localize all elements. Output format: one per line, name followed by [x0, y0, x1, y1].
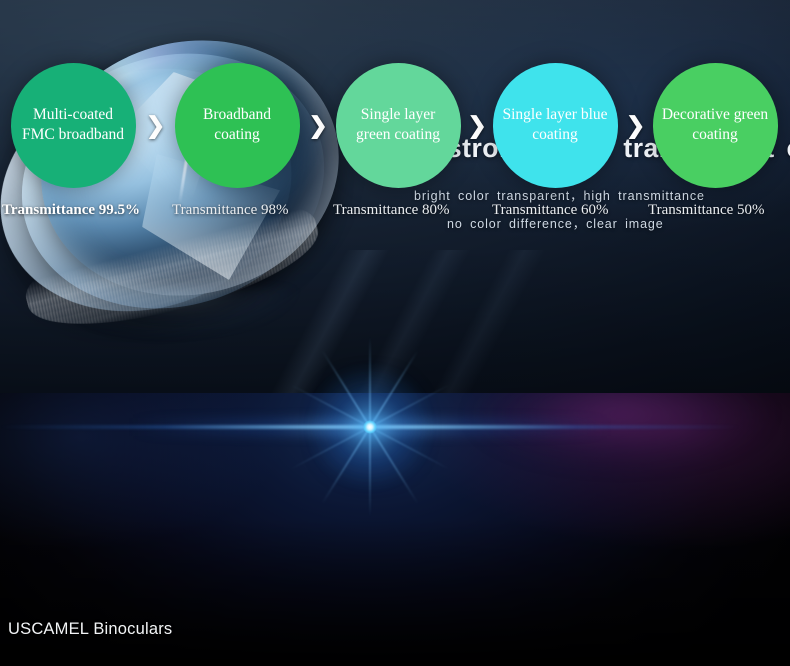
coating-step-label: Decorative green coating — [662, 105, 769, 145]
product-banner: A very strong force transparent of lens … — [0, 0, 790, 666]
coating-step-transmittance-2: Transmittance 98% — [172, 202, 289, 219]
coating-step-3: Single layer green coating — [336, 63, 461, 188]
flow-arrow-icon-1: ❯ — [146, 113, 164, 137]
coating-step-5: Decorative green coating — [653, 63, 778, 188]
coating-step-1: Multi-coated FMC broadband — [11, 63, 136, 188]
coating-step-label: Broadband coating — [184, 105, 291, 145]
flow-arrow-icon-4: ❯ — [626, 113, 644, 137]
coating-step-transmittance-1: Transmittance 99.5% — [2, 202, 140, 219]
coating-step-flow: Multi-coated FMC broadband❯Transmittance… — [0, 0, 790, 273]
purple-haze-glow — [430, 393, 790, 469]
coating-step-label: Single layer green coating — [345, 105, 452, 145]
brand-label: USCAMEL Binoculars — [8, 620, 172, 639]
coating-step-transmittance-4: Transmittance 60% — [492, 202, 609, 219]
coating-step-4: Single layer blue coating — [493, 63, 618, 188]
coating-step-label: Multi-coated FMC broadband — [20, 105, 127, 145]
lens-surface-reflection — [12, 288, 332, 350]
coating-step-transmittance-3: Transmittance 80% — [333, 202, 450, 219]
coating-step-2: Broadband coating — [175, 63, 300, 188]
flow-arrow-icon-2: ❯ — [309, 113, 327, 137]
coating-step-label: Single layer blue coating — [502, 105, 609, 145]
coating-step-transmittance-5: Transmittance 50% — [648, 202, 765, 219]
flow-arrow-icon-3: ❯ — [468, 113, 486, 137]
